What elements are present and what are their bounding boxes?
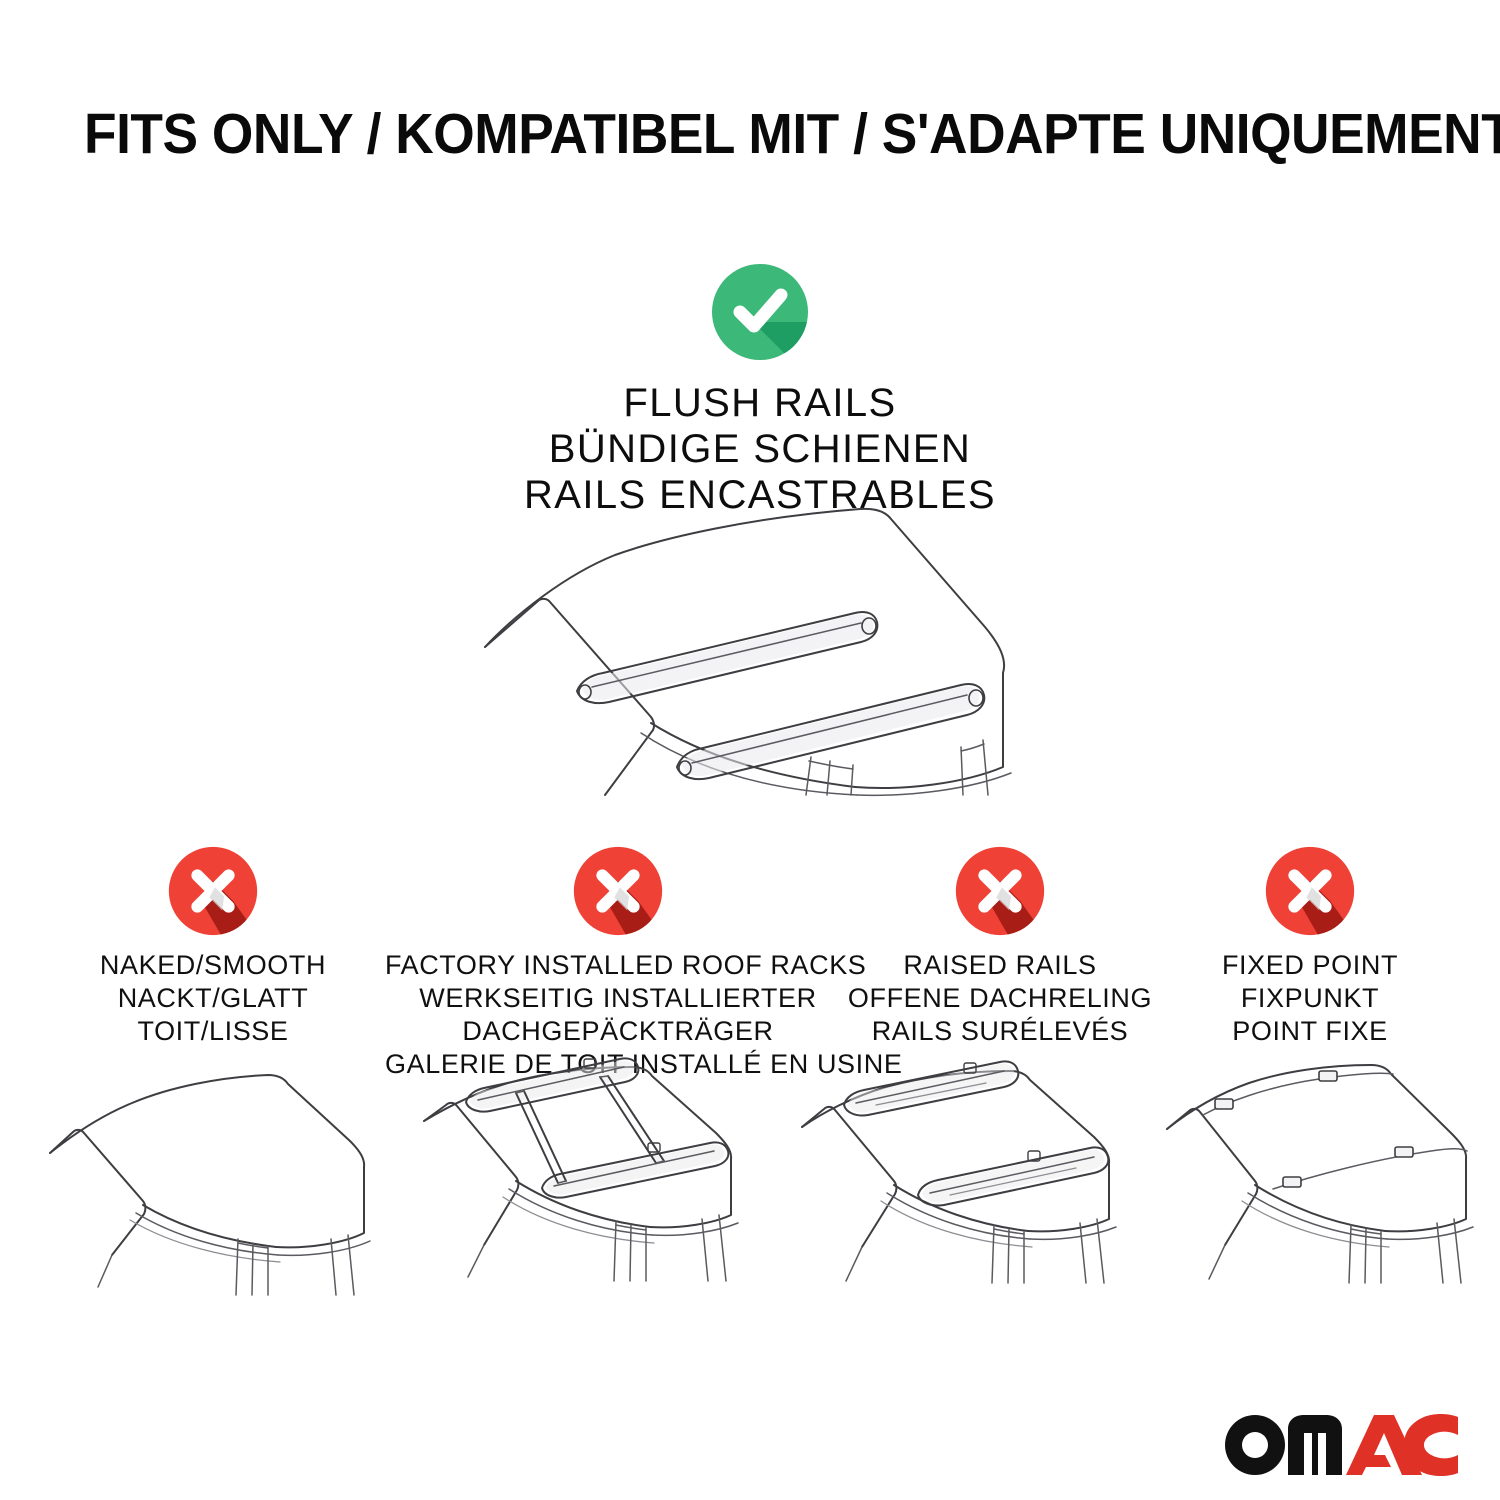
caption-line-de: NACKT/GLATT xyxy=(43,982,383,1015)
omac-logo xyxy=(1222,1405,1458,1477)
incompatible-col-fixed-point: FIXED POINT FIXPUNKT POINT FIXE xyxy=(1155,845,1465,1048)
caption-line-de-2: DACHGEPÄCKTRÄGER xyxy=(385,1015,851,1048)
roof-naked-smooth-illustration xyxy=(40,1055,420,1305)
incompatible-col-naked-smooth: NAKED/SMOOTH NACKT/GLATT TOIT/LISSE xyxy=(43,845,383,1048)
caption-line-fr: TOIT/LISSE xyxy=(43,1015,383,1048)
compatible-line-en: FLUSH RAILS xyxy=(380,380,1140,426)
roof-factory-racks-illustration xyxy=(412,1055,792,1305)
green-check-circle-icon xyxy=(710,262,810,362)
incompatible-col-factory-roof-racks: FACTORY INSTALLED ROOF RACKS WERKSEITIG … xyxy=(385,845,851,1081)
red-x-circle-icon xyxy=(167,845,259,937)
roof-fixed-point-illustration xyxy=(1155,1055,1500,1305)
caption-line-en: NAKED/SMOOTH xyxy=(43,949,383,982)
flush-rails-illustration xyxy=(455,495,1055,795)
caption-line-en: RAISED RAILS xyxy=(840,949,1160,982)
page-title: FITS ONLY / KOMPATIBEL MIT / S'ADAPTE UN… xyxy=(84,105,1337,165)
logo-letter-m xyxy=(1288,1415,1342,1475)
caption-line-de: FIXPUNKT xyxy=(1155,982,1465,1015)
red-x-circle-icon xyxy=(954,845,1046,937)
logo-letter-o xyxy=(1225,1415,1285,1475)
incompatible-caption: RAISED RAILS OFFENE DACHRELING RAILS SUR… xyxy=(840,949,1160,1048)
fitment-infographic: FITS ONLY / KOMPATIBEL MIT / S'ADAPTE UN… xyxy=(0,0,1500,1500)
red-x-circle-icon xyxy=(572,845,664,937)
red-x-circle-icon xyxy=(1264,845,1356,937)
incompatible-col-raised-rails: RAISED RAILS OFFENE DACHRELING RAILS SUR… xyxy=(840,845,1160,1048)
caption-line-en: FIXED POINT xyxy=(1155,949,1465,982)
compatible-line-de: BÜNDIGE SCHIENEN xyxy=(380,426,1140,472)
compatible-block: FLUSH RAILS BÜNDIGE SCHIENEN RAILS ENCAS… xyxy=(380,262,1140,518)
caption-line-de-1: WERKSEITIG INSTALLIERTER xyxy=(385,982,851,1015)
incompatible-caption: FIXED POINT FIXPUNKT POINT FIXE xyxy=(1155,949,1465,1048)
caption-line-en: FACTORY INSTALLED ROOF RACKS xyxy=(385,949,851,982)
caption-line-fr: RAILS SURÉLEVÉS xyxy=(840,1015,1160,1048)
roof-raised-rails-illustration xyxy=(790,1055,1170,1305)
incompatible-caption: NAKED/SMOOTH NACKT/GLATT TOIT/LISSE xyxy=(43,949,383,1048)
caption-line-de: OFFENE DACHRELING xyxy=(840,982,1160,1015)
caption-line-fr: POINT FIXE xyxy=(1155,1015,1465,1048)
incompatible-row: NAKED/SMOOTH NACKT/GLATT TOIT/LISSE xyxy=(0,845,1500,1055)
roof-illustration-row xyxy=(0,1055,1500,1305)
